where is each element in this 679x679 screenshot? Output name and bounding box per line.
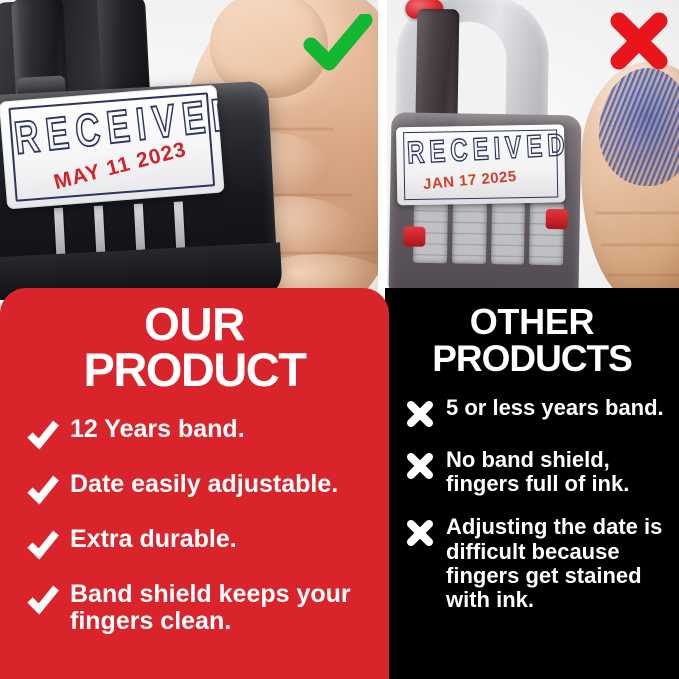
list-item: Band shield keeps your fingers clean. (26, 581, 367, 635)
check-icon (26, 418, 60, 450)
list-item-label: 12 Years band. (70, 416, 245, 443)
our-product-photo: RECEIVED MAY 11 2023 (0, 0, 378, 300)
list-item-label: Adjusting the date is difficult because … (446, 515, 667, 612)
other-products-heading-line1: OTHER (470, 301, 595, 342)
list-item: Adjusting the date is difficult because … (405, 515, 667, 612)
product-photo-area: RECEIVED MAY 11 2023 (0, 0, 679, 300)
date-band (490, 202, 525, 265)
comparison-infographic: RECEIVED MAY 11 2023 (0, 0, 679, 679)
check-icon (26, 473, 60, 505)
stamp-label: RECEIVED JAN 17 2025 (396, 124, 565, 205)
list-item-label: Date easily adjustable. (70, 471, 338, 498)
our-product-panel: OUR PRODUCT 12 Years band. Date easily a… (0, 288, 389, 679)
x-icon (405, 518, 435, 548)
our-product-heading-line2: PRODUCT (0, 347, 389, 393)
list-item-label: 5 or less years band. (446, 396, 664, 420)
check-icon (26, 528, 60, 560)
exposed-date-bands (413, 201, 564, 266)
other-products-panel: OTHER PRODUCTS 5 or less years band. (385, 288, 679, 679)
stamp-plunger (415, 9, 459, 128)
stamp-label: RECEIVED MAY 11 2023 (0, 85, 225, 210)
other-products-heading-line2: PRODUCTS (385, 340, 679, 377)
other-product-date-stamp: RECEIVED JAN 17 2025 (388, 0, 593, 298)
our-product-date-stamp: RECEIVED MAY 11 2023 (0, 28, 289, 300)
list-item: Date easily adjustable. (26, 471, 367, 505)
list-item: 12 Years band. (26, 416, 367, 450)
list-item: 5 or less years band. (405, 396, 667, 429)
list-item: No band shield, fingers full of ink. (405, 448, 667, 496)
band-adjust-tab (403, 226, 425, 246)
date-band (452, 201, 487, 264)
band-adjust-tab (546, 209, 568, 229)
x-icon (608, 10, 670, 72)
check-icon (303, 14, 373, 72)
list-item-label: Extra durable. (70, 526, 237, 553)
blue-ink-fingerprint (599, 68, 679, 186)
other-products-bullet-list: 5 or less years band. No band shield, fi… (405, 396, 667, 631)
list-item-label: No band shield, fingers full of ink. (446, 448, 667, 496)
list-item-label: Band shield keeps your fingers clean. (70, 581, 367, 635)
our-product-heading: OUR PRODUCT (0, 302, 389, 393)
x-icon (405, 399, 435, 429)
skin-crease (607, 274, 679, 276)
other-products-heading: OTHER PRODUCTS (385, 304, 679, 377)
x-icon (405, 451, 435, 481)
check-icon (26, 583, 60, 615)
list-item: Extra durable. (26, 526, 367, 560)
skin-crease (601, 244, 679, 246)
skin-crease (595, 212, 679, 214)
our-product-bullet-list: 12 Years band. Date easily adjustable. E… (26, 416, 367, 656)
